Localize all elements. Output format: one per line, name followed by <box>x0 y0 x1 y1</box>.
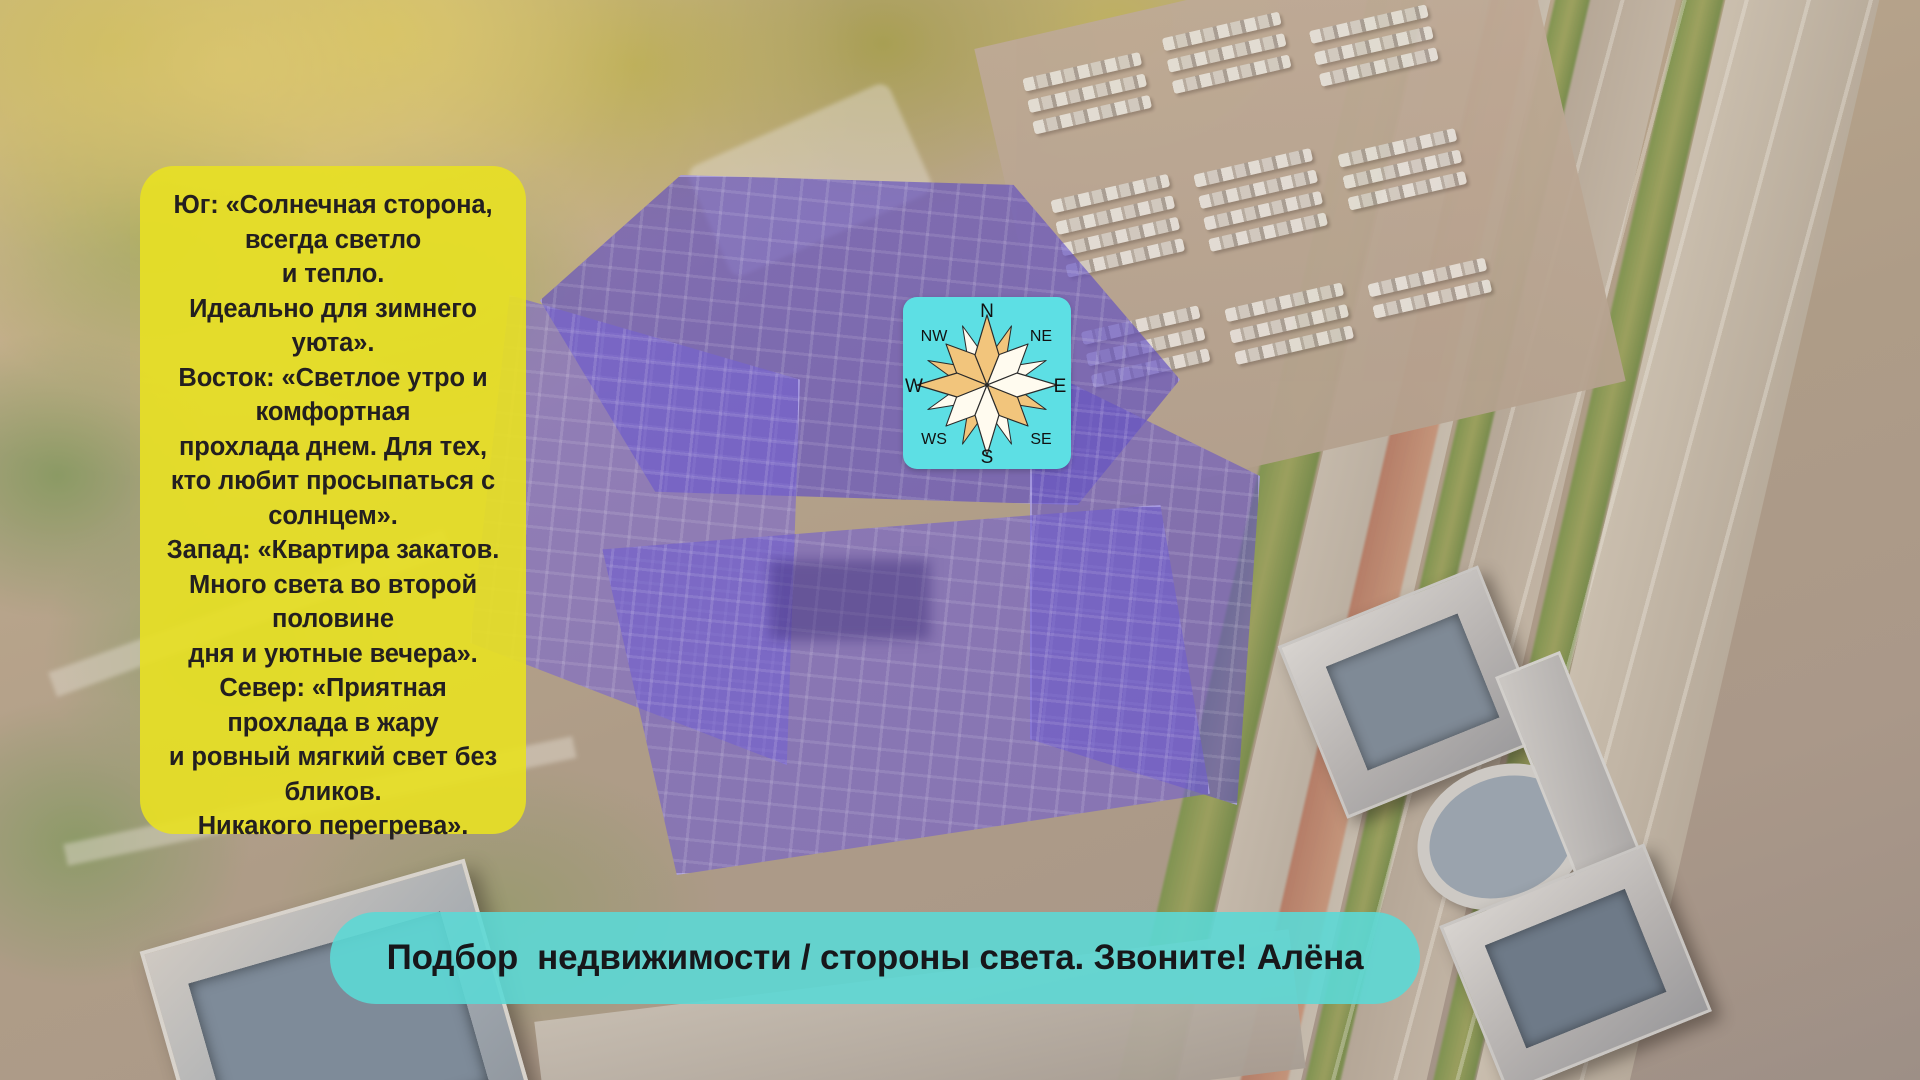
compass-label-se: SE <box>1030 431 1051 448</box>
compass-rose-icon: N NE E SE S WS W NW <box>903 297 1071 469</box>
orientation-info-text: Юг: «Солнечная сторона, всегда светло и … <box>167 188 499 844</box>
compass-label-s: S <box>981 447 994 468</box>
cta-banner[interactable]: Подбор недвижимости / стороны света. Зво… <box>330 912 1420 1004</box>
compass-label-n: N <box>980 301 994 322</box>
cta-banner-text: Подбор недвижимости / стороны света. Зво… <box>387 938 1364 978</box>
compass-label-e: E <box>1054 376 1067 397</box>
compass-label-ne: NE <box>1030 328 1052 345</box>
compass-label-nw: NW <box>921 328 949 345</box>
compass-label-w: W <box>905 376 923 397</box>
orientation-info-card: Юг: «Солнечная сторона, всегда светло и … <box>140 166 526 834</box>
compass-label-ws: WS <box>921 431 947 448</box>
poster-canvas: N NE E SE S WS W NW Юг: «Солнечная сторо… <box>0 0 1920 1080</box>
building-shadow <box>770 560 930 640</box>
compass-rose-card: N NE E SE S WS W NW <box>903 297 1071 469</box>
highlighted-building <box>470 175 1260 875</box>
